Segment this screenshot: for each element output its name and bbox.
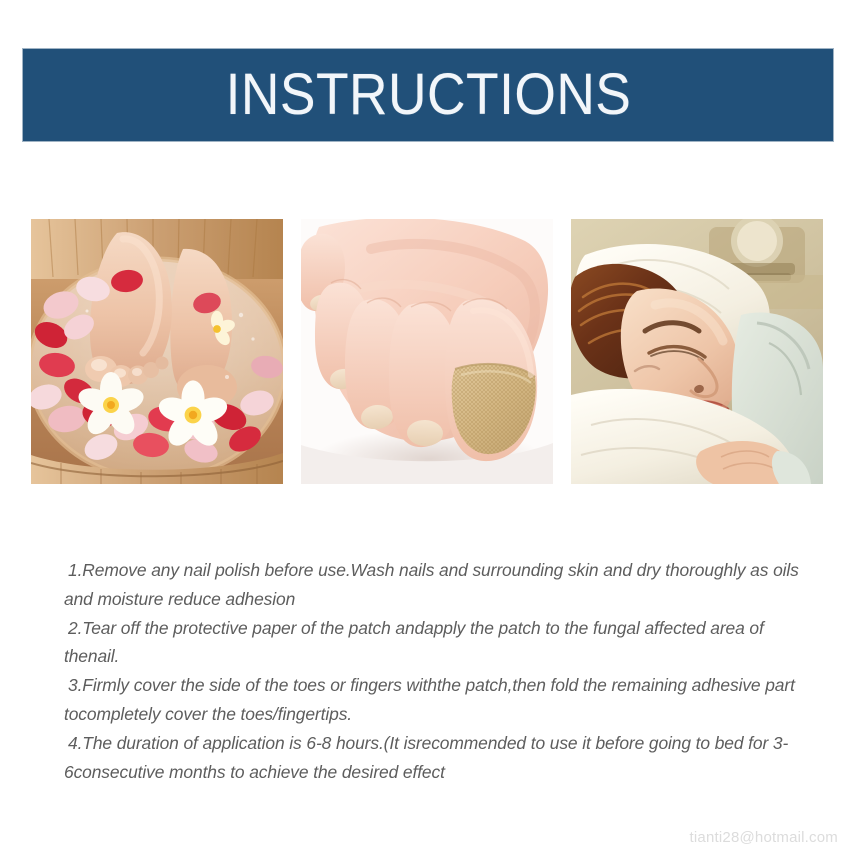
- instruction-step-3: 3.Firmly cover the side of the toes or f…: [64, 671, 800, 729]
- woman-sleeping-photo: [571, 219, 823, 484]
- email-watermark: tianti28@hotmail.com: [690, 829, 838, 846]
- instruction-step-1: 1.Remove any nail polish before use.Wash…: [64, 556, 800, 614]
- page-title: INSTRUCTIONS: [225, 66, 631, 124]
- instruction-step-2: 2.Tear off the protective paper of the p…: [64, 614, 800, 672]
- instructions-header-banner: INSTRUCTIONS: [22, 48, 834, 142]
- instruction-photo-row: [31, 219, 823, 484]
- toe-with-nail-patch-photo: [301, 219, 553, 484]
- foot-bath-rose-petals-photo: [31, 219, 283, 484]
- instruction-step-4: 4.The duration of application is 6-8 hou…: [64, 729, 800, 787]
- instructions-text-block: 1.Remove any nail polish before use.Wash…: [64, 556, 800, 786]
